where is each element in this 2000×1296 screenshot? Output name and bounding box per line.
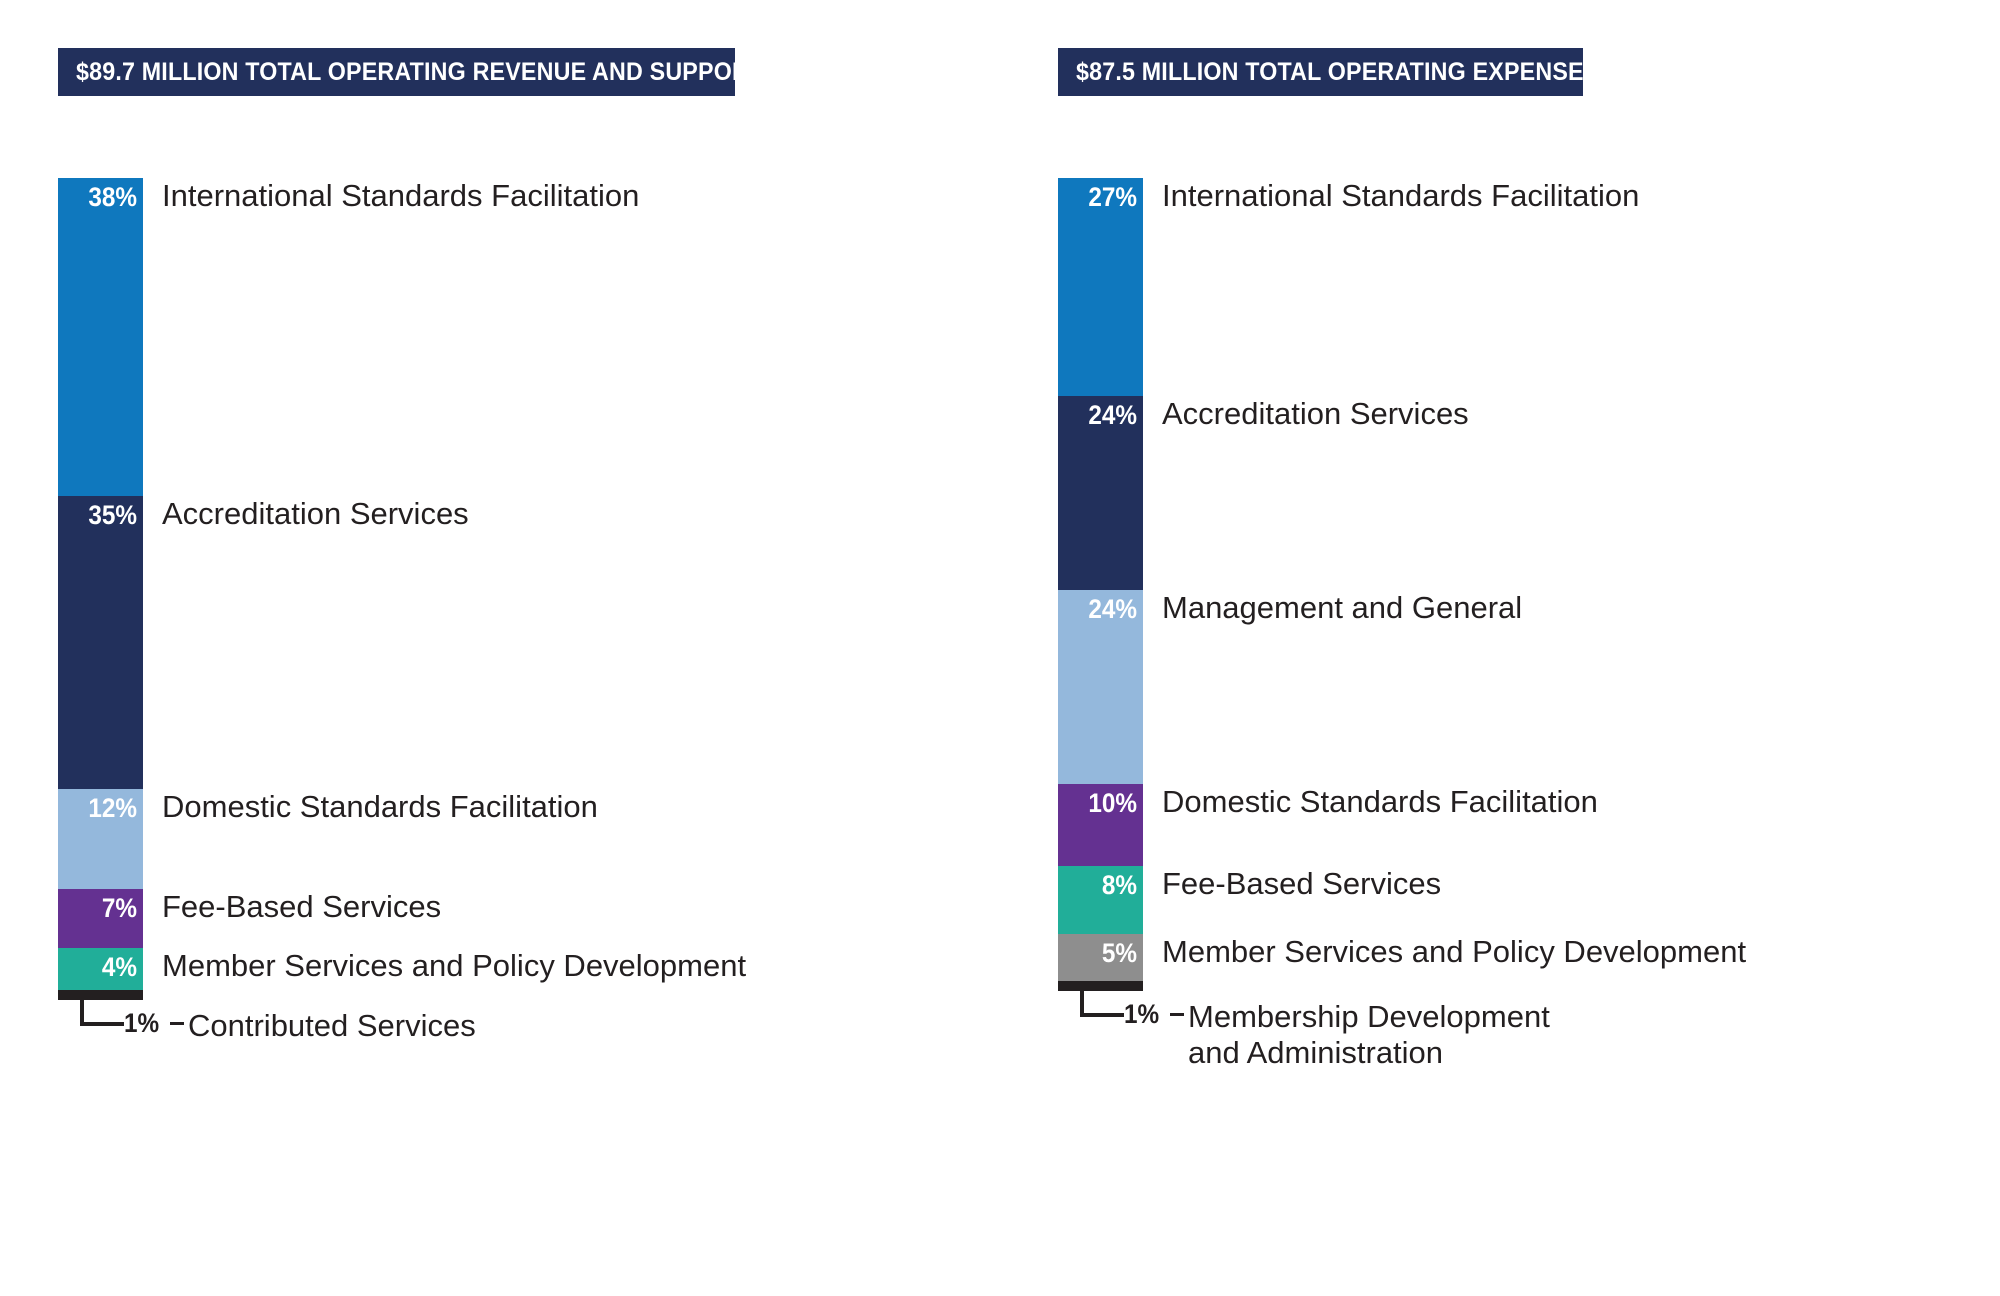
bar-segment-thin[interactable]: 1%Membership Developmentand Administrati… [1058,981,1143,991]
segment-category-label: Member Services and Policy Development [1162,934,1746,970]
bar-segment[interactable]: 35%Accreditation Services [58,496,143,789]
segment-percent-label: 4% [102,954,137,981]
bar-segment[interactable]: 12%Domestic Standards Facilitation [58,789,143,889]
segment-category-label: Member Services and Policy Development [162,948,746,984]
segment-category-label: Accreditation Services [1162,396,1469,432]
bar-segment[interactable]: 27%International Standards Facilitation [1058,178,1143,396]
segment-category-label: Contributed Services [188,1008,476,1044]
segment-category-label: Membership Developmentand Administration [1188,999,1550,1071]
segment-percent-label: 10% [1088,790,1137,817]
dash-connector-icon [1170,1013,1184,1016]
expenses-title-text: $87.5 MILLION TOTAL OPERATING EXPENSES [1076,58,1599,87]
panel-operating-revenue: $89.7 MILLION TOTAL OPERATING REVENUE AN… [58,0,1008,1296]
revenue-title-text: $89.7 MILLION TOTAL OPERATING REVENUE AN… [76,58,763,87]
segment-percent-label: 1% [124,1010,159,1037]
revenue-title-banner: $89.7 MILLION TOTAL OPERATING REVENUE AN… [58,48,735,96]
bar-segment[interactable]: 24%Management and General [1058,590,1143,784]
segment-percent-label: 1% [1124,1001,1159,1028]
segment-category-label: Fee-Based Services [1162,866,1441,902]
segment-percent-label: 27% [1088,184,1137,211]
segment-category-label: Management and General [1162,590,1522,626]
segment-category-label: International Standards Facilitation [1162,178,1639,214]
segment-percent-label: 8% [1102,872,1137,899]
segment-percent-label: 12% [88,795,137,822]
segment-category-label: Fee-Based Services [162,889,441,925]
segment-percent-label: 38% [88,184,137,211]
segment-category-label: Domestic Standards Facilitation [162,789,598,825]
segment-percent-label: 35% [88,502,137,529]
segment-category-label: Domestic Standards Facilitation [1162,784,1598,820]
bar-segment[interactable]: 38%International Standards Facilitation [58,178,143,496]
revenue-stacked-bar: 38%International Standards Facilitation3… [58,178,143,1000]
bar-segment[interactable]: 7%Fee-Based Services [58,889,143,948]
segment-percent-label: 5% [1102,940,1137,967]
bar-segment[interactable]: 10%Domestic Standards Facilitation [1058,784,1143,866]
bar-segment-thin[interactable]: 1%Contributed Services [58,990,143,1000]
leader-line [1080,991,1124,1017]
dash-connector-icon [170,1022,184,1025]
bar-segment[interactable]: 4%Member Services and Policy Development [58,948,143,990]
panel-operating-expenses: $87.5 MILLION TOTAL OPERATING EXPENSES 2… [1058,0,2000,1296]
segment-category-label: International Standards Facilitation [162,178,639,214]
leader-line [80,1000,124,1026]
segment-percent-label: 24% [1088,596,1137,623]
expenses-stacked-bar: 27%International Standards Facilitation2… [1058,178,1143,991]
segment-percent-label: 7% [102,895,137,922]
infographic-canvas: $89.7 MILLION TOTAL OPERATING REVENUE AN… [0,0,2000,1296]
bar-segment[interactable]: 24%Accreditation Services [1058,396,1143,590]
segment-category-label: Accreditation Services [162,496,469,532]
segment-percent-label: 24% [1088,402,1137,429]
bar-segment[interactable]: 8%Fee-Based Services [1058,866,1143,934]
expenses-title-banner: $87.5 MILLION TOTAL OPERATING EXPENSES [1058,48,1583,96]
bar-segment[interactable]: 5%Member Services and Policy Development [1058,934,1143,981]
